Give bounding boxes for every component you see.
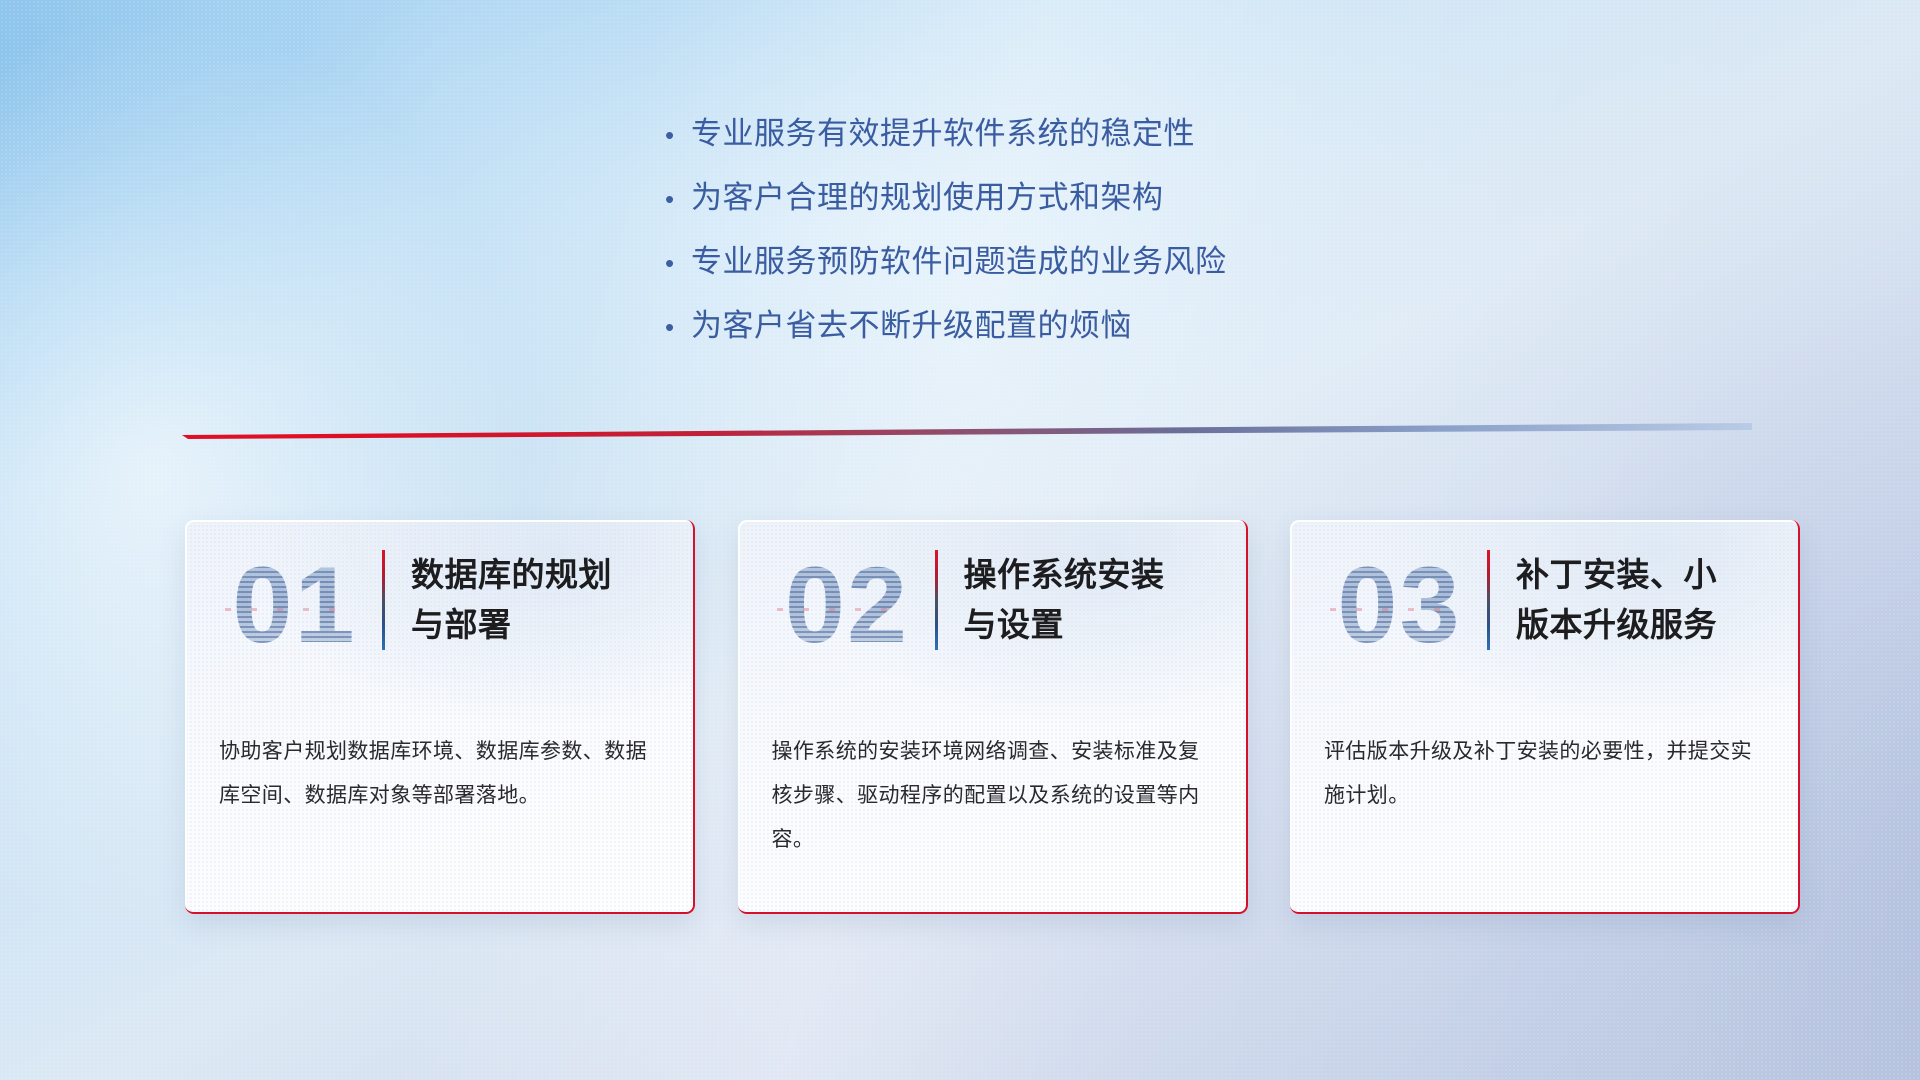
bullet-dot-icon: •: [665, 122, 691, 148]
bullet-label: 专业服务预防软件问题造成的业务风险: [691, 236, 1227, 281]
card-title-group: 操作系统安装 与设置: [935, 550, 1165, 650]
title-accent-rule: [1487, 550, 1490, 650]
bullet-dot-icon: •: [665, 314, 691, 340]
bullet-dot-icon: •: [665, 250, 691, 276]
card-description: 评估版本升级及补丁安装的必要性，并提交实施计划。: [1324, 730, 1762, 818]
card-header: 01 数据库的规划 与部署: [185, 546, 695, 666]
section-divider: [182, 418, 1752, 444]
card-header: 03 补丁安装、小 版本升级服务: [1290, 546, 1800, 666]
divider-tapered-bar: [182, 418, 1752, 444]
service-card-row: 01 数据库的规划 与部署 协助客户规划数据库环境、数据库参数、数据库空间、数据…: [185, 520, 1800, 914]
slide-canvas: • 专业服务有效提升软件系统的稳定性 • 为客户合理的规划使用方式和架构 • 专…: [0, 0, 1920, 1080]
bullet-label: 为客户合理的规划使用方式和架构: [691, 172, 1164, 217]
card-title: 数据库的规划 与部署: [411, 550, 612, 650]
service-card[interactable]: 01 数据库的规划 与部署 协助客户规划数据库环境、数据库参数、数据库空间、数据…: [185, 520, 695, 914]
card-index-number: 01: [207, 546, 382, 666]
card-description: 操作系统的安装环境网络调查、安装标准及复核步骤、驱动程序的配置以及系统的设置等内…: [772, 730, 1210, 862]
title-accent-rule: [382, 550, 385, 650]
card-index-number: 03: [1312, 546, 1487, 666]
card-header: 02 操作系统安装 与设置: [738, 546, 1248, 666]
card-index-number: 02: [760, 546, 935, 666]
benefits-bullet-list: • 专业服务有效提升软件系统的稳定性 • 为客户合理的规划使用方式和架构 • 专…: [665, 108, 1485, 364]
title-accent-rule: [935, 550, 938, 650]
card-title-group: 数据库的规划 与部署: [382, 550, 612, 650]
bullet-dot-icon: •: [665, 186, 691, 212]
card-title-group: 补丁安装、小 版本升级服务: [1487, 550, 1717, 650]
bullet-label: 为客户省去不断升级配置的烦恼: [691, 300, 1132, 345]
card-description: 协助客户规划数据库环境、数据库参数、数据库空间、数据库对象等部署落地。: [219, 730, 657, 818]
card-title: 补丁安装、小 版本升级服务: [1516, 550, 1717, 650]
service-card[interactable]: 03 补丁安装、小 版本升级服务 评估版本升级及补丁安装的必要性，并提交实施计划…: [1290, 520, 1800, 914]
bullet-item: • 专业服务有效提升软件系统的稳定性: [665, 108, 1485, 172]
bullet-label: 专业服务有效提升软件系统的稳定性: [691, 108, 1195, 153]
bullet-item: • 为客户合理的规划使用方式和架构: [665, 172, 1485, 236]
bullet-item: • 专业服务预防软件问题造成的业务风险: [665, 236, 1485, 300]
service-card[interactable]: 02 操作系统安装 与设置 操作系统的安装环境网络调查、安装标准及复核步骤、驱动…: [738, 520, 1248, 914]
card-title: 操作系统安装 与设置: [964, 550, 1165, 650]
bullet-item: • 为客户省去不断升级配置的烦恼: [665, 300, 1485, 364]
